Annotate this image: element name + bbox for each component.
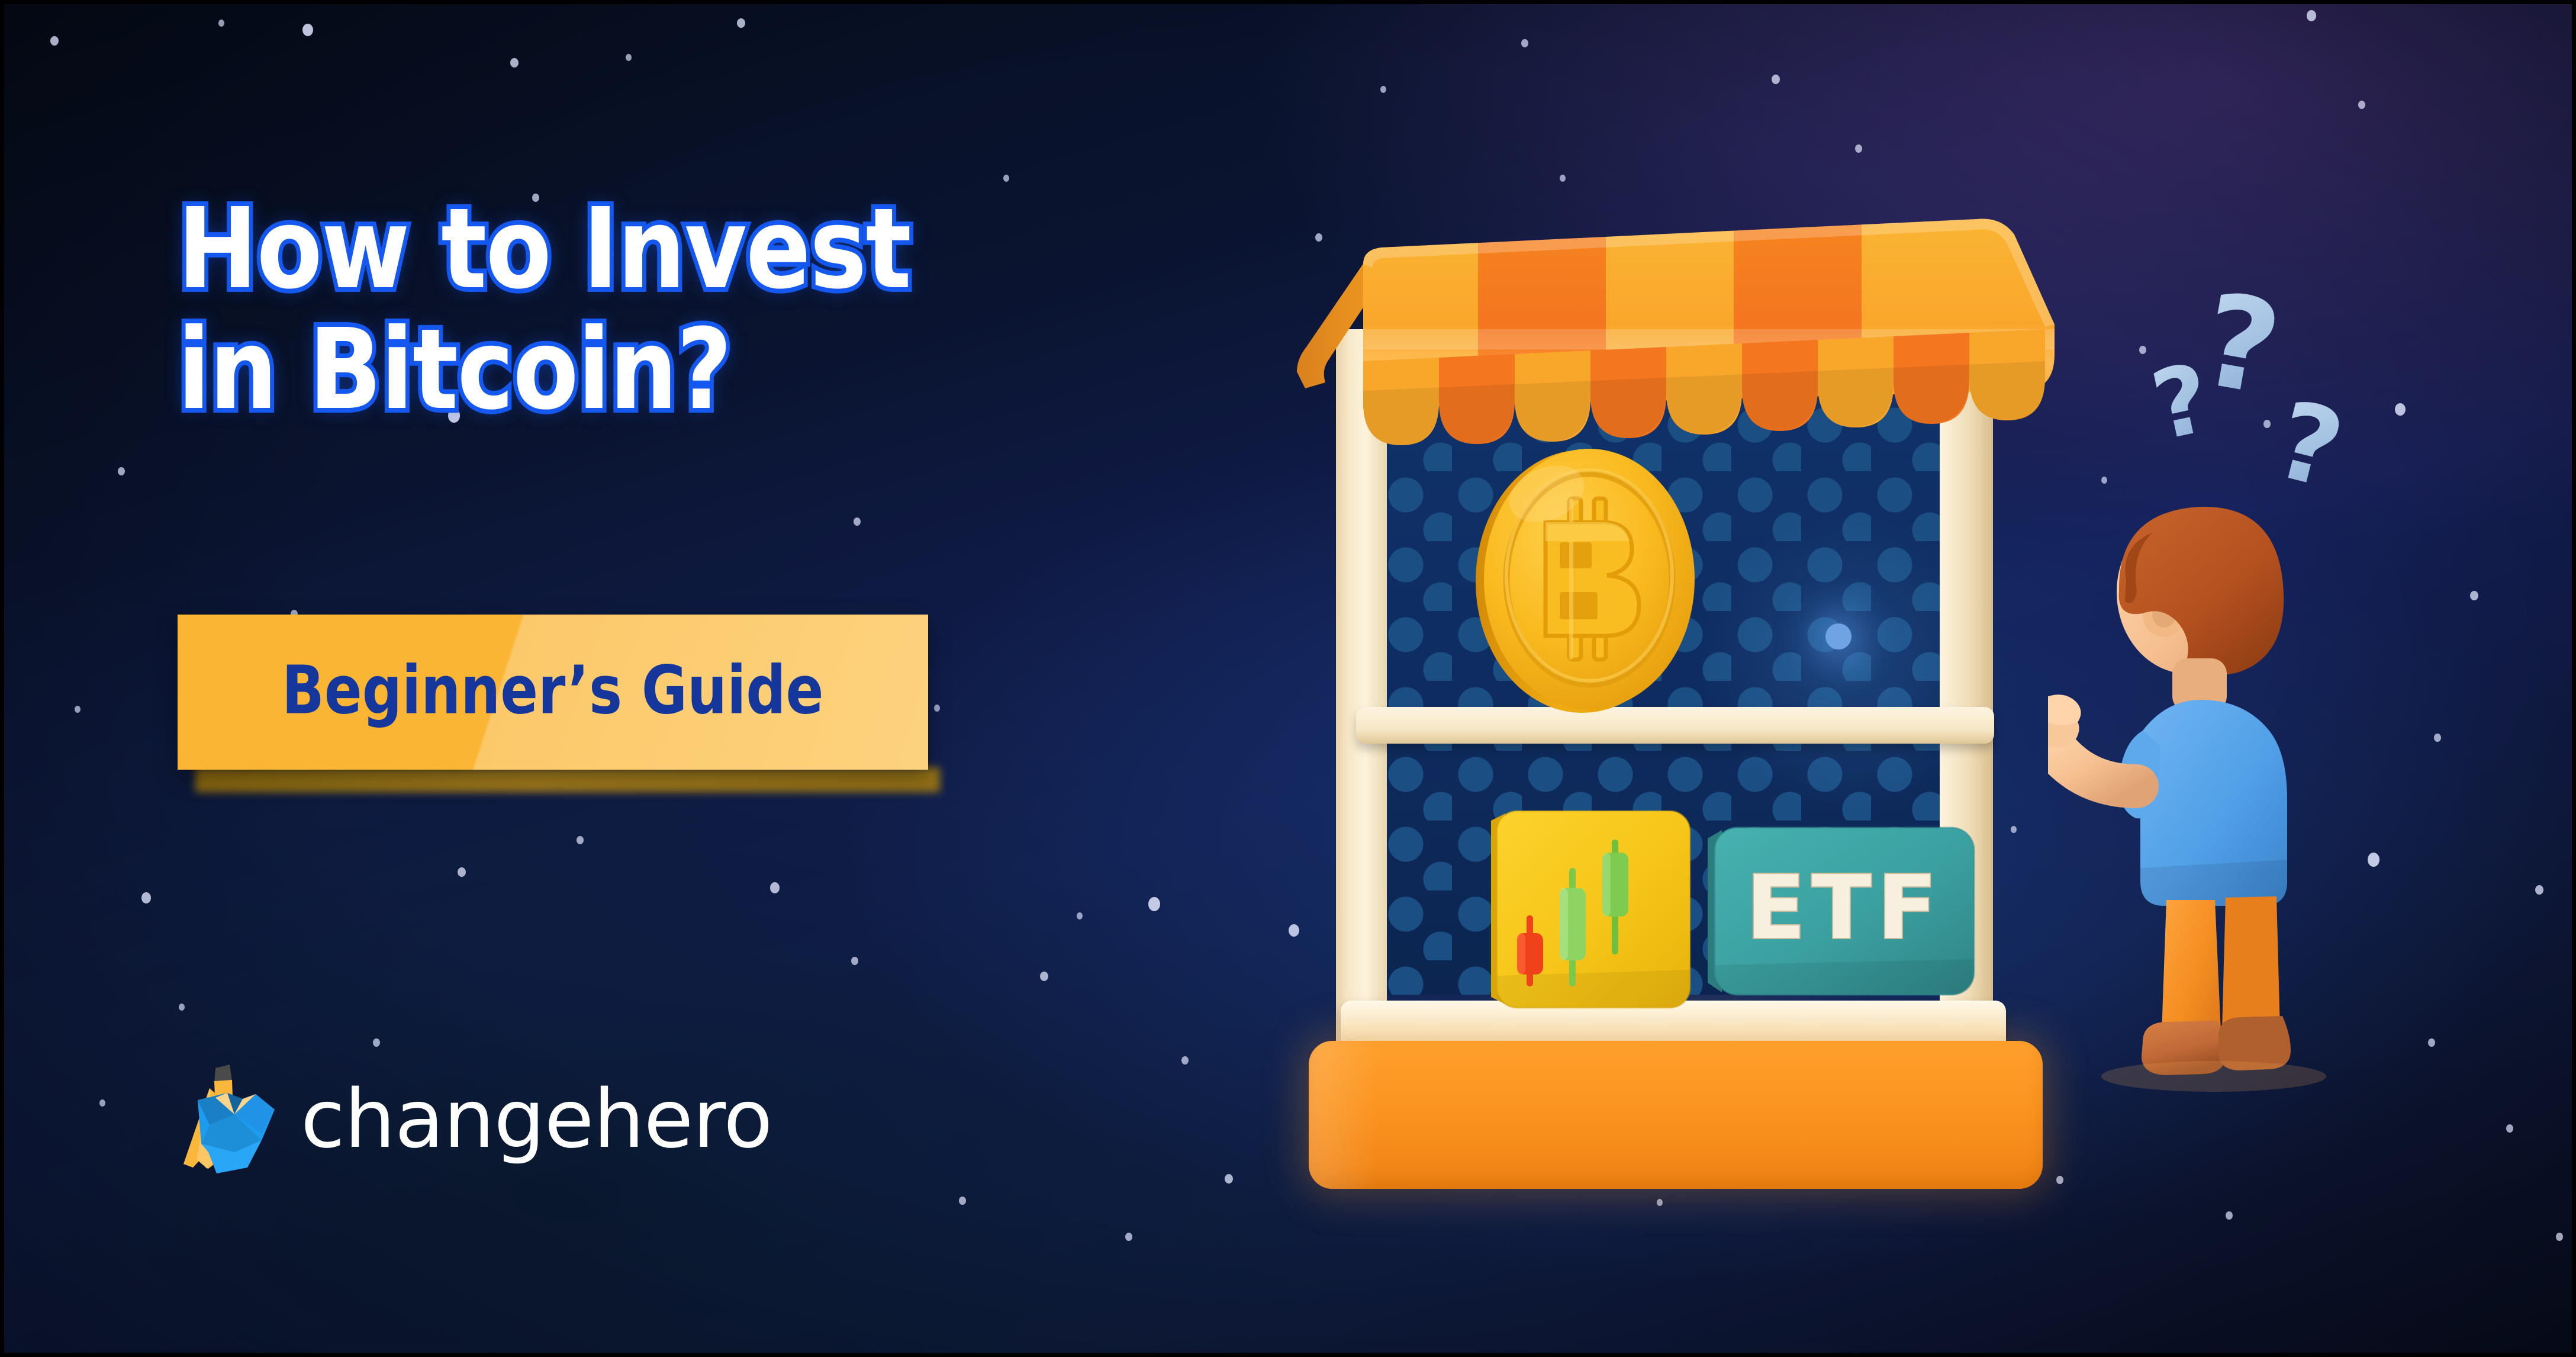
logo-wordmark: changehero — [301, 1079, 772, 1160]
badge-label: Beginner’s Guide — [178, 652, 928, 729]
star — [179, 1004, 185, 1011]
star — [577, 836, 584, 844]
star — [2101, 477, 2107, 484]
confused-shopper-character — [2048, 491, 2368, 1172]
star — [2358, 101, 2365, 109]
star — [141, 892, 151, 903]
star — [2428, 1038, 2435, 1047]
star — [218, 20, 224, 27]
changehero-superhero-icon — [173, 1063, 277, 1176]
subtitle-badge: Beginner’s Guide — [178, 615, 928, 770]
star — [99, 1099, 105, 1107]
svg-text:?: ? — [2264, 378, 2354, 497]
shop-awning — [1293, 213, 2057, 474]
star — [1181, 1056, 1189, 1065]
badge-drop-shadow — [195, 767, 940, 792]
page-title: How to Invest in Bitcoin? — [178, 195, 1030, 425]
star — [770, 882, 780, 893]
star — [1855, 144, 1862, 153]
star — [854, 517, 861, 526]
star — [851, 957, 858, 965]
star — [1521, 39, 1528, 47]
candlestick-chart-card — [1483, 805, 1696, 1012]
star — [1560, 175, 1566, 182]
star — [2307, 10, 2316, 21]
star — [2368, 853, 2379, 867]
subtitle-badge-wrapper: Beginner’s Guide — [178, 615, 928, 770]
star — [302, 24, 313, 36]
star — [2395, 403, 2406, 416]
star — [626, 54, 632, 61]
star — [959, 1197, 966, 1205]
title-line-2: in Bitcoin? — [178, 316, 910, 424]
title-line-1: How to Invest — [178, 195, 910, 303]
etf-card: ETF — [1702, 822, 1980, 999]
brand-logo[interactable]: changehero — [173, 1063, 772, 1176]
etf-card-label: ETF — [1746, 857, 1943, 959]
star — [2434, 734, 2441, 742]
bitcoin-coin — [1471, 444, 1708, 716]
star — [1125, 1233, 1132, 1241]
star — [118, 467, 125, 475]
star — [2226, 1211, 2233, 1220]
star — [75, 706, 80, 713]
star — [2506, 1124, 2513, 1133]
star — [373, 1038, 380, 1047]
shop-base — [1309, 1041, 2043, 1189]
star — [1003, 175, 1009, 182]
bitcoin-shop-illustration: ETF — [1293, 213, 2057, 1220]
star — [2556, 1233, 2563, 1241]
question-mark-small: ? — [2264, 378, 2354, 497]
banner-canvas: How to Invest in Bitcoin? Beginner’s Gui… — [0, 0, 2576, 1357]
star — [2056, 1176, 2063, 1184]
star — [1077, 912, 1083, 919]
question-mark-cluster: ? ? ? — [2131, 290, 2379, 497]
star — [934, 705, 940, 712]
star — [1380, 86, 1386, 93]
star — [1148, 897, 1160, 911]
